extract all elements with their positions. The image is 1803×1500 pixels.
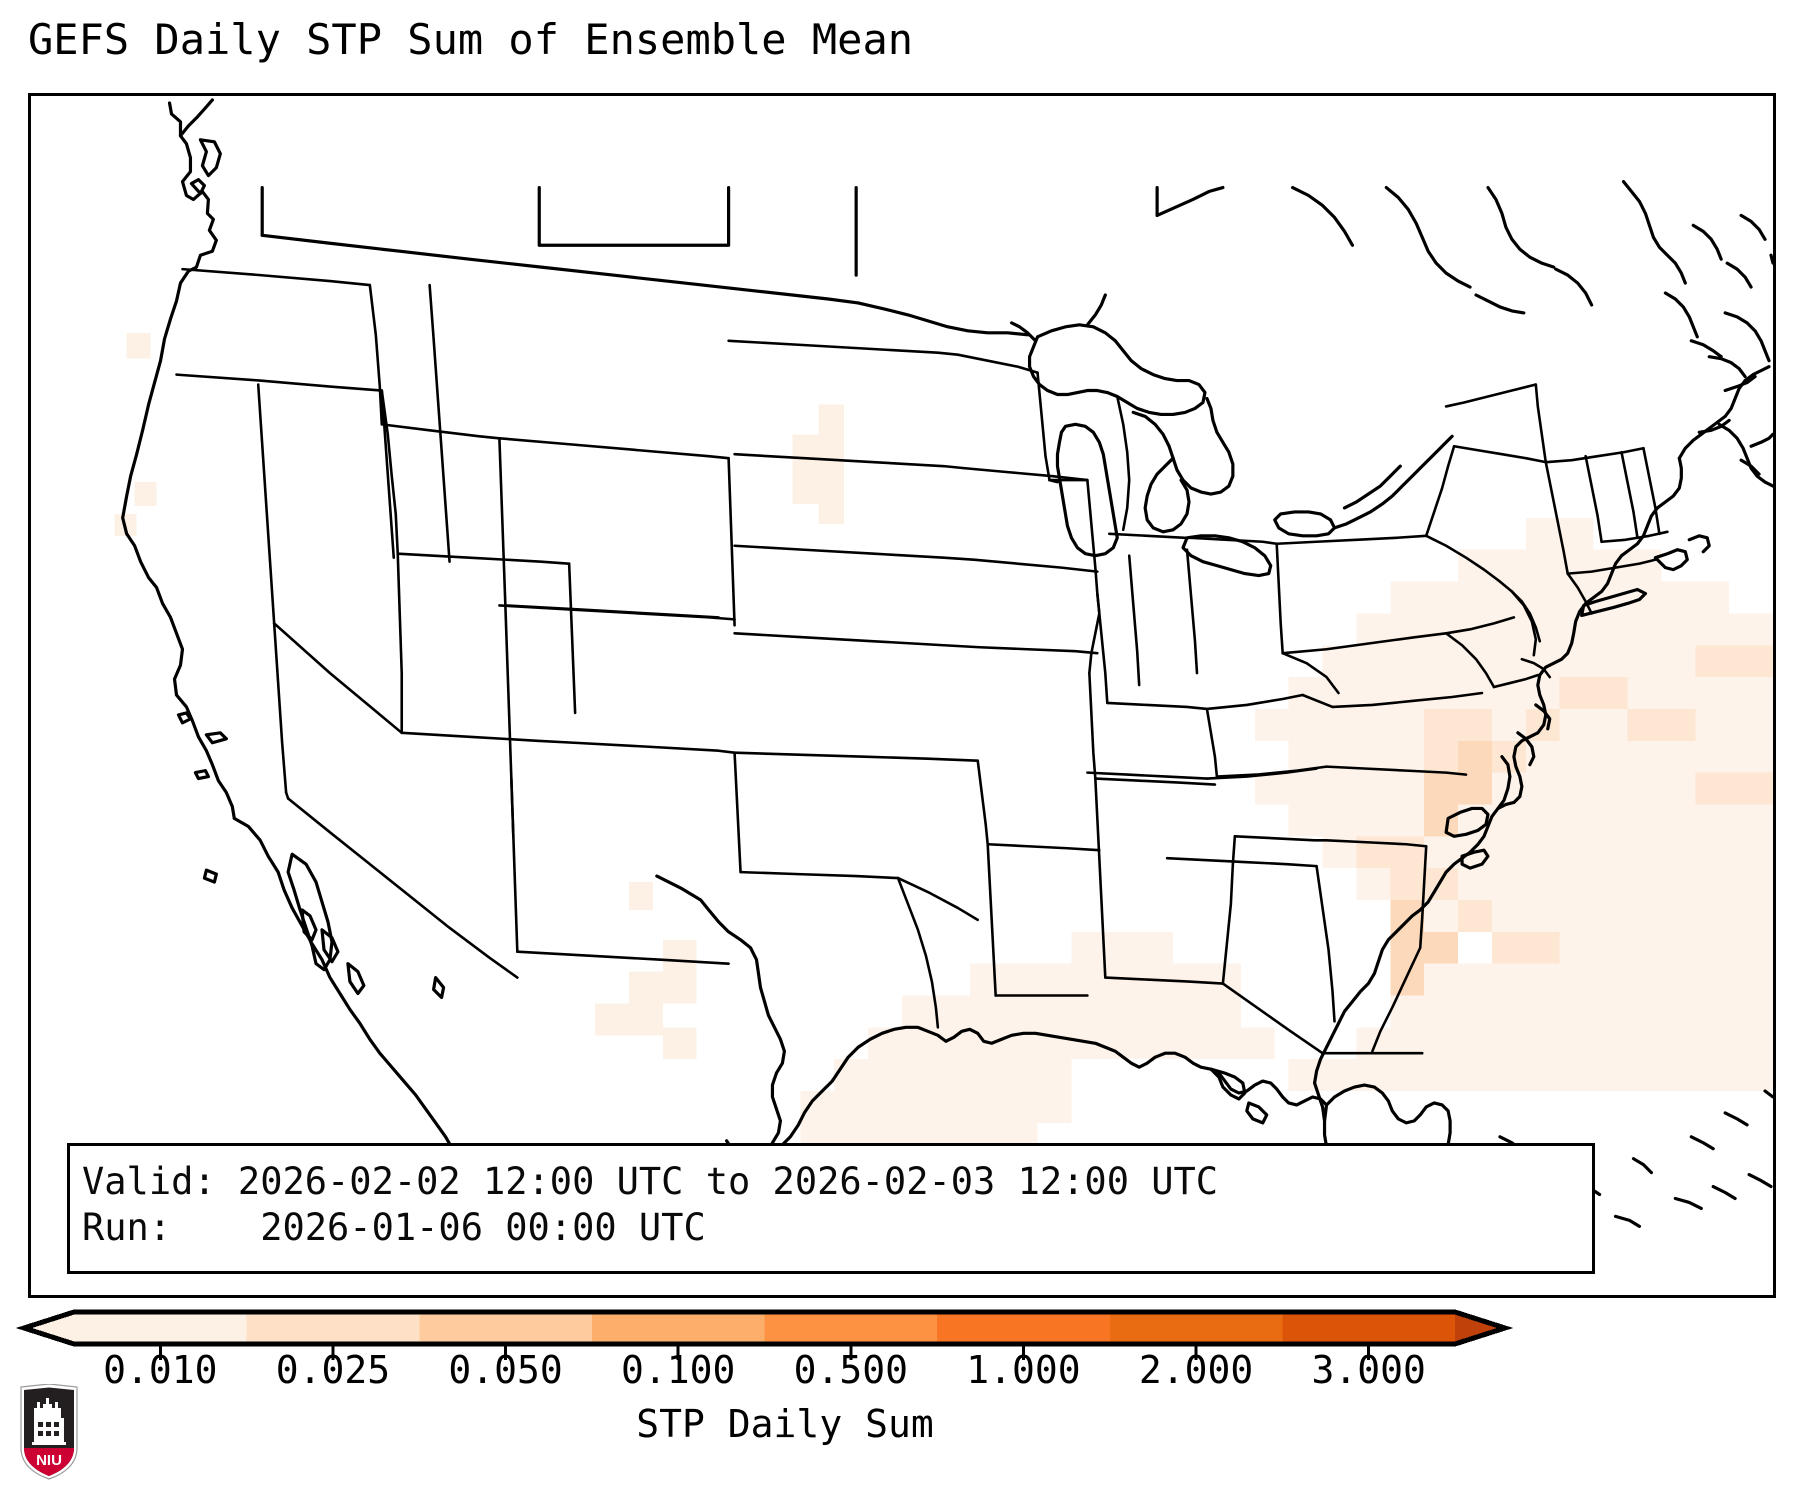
colorbar-segment xyxy=(1282,1312,1455,1344)
colorbar-segments xyxy=(74,1312,1456,1344)
colorbar-tick-label: 0.025 xyxy=(276,1348,390,1392)
colorbar-axis-label: STP Daily Sum xyxy=(636,1402,933,1446)
run-time-line: Run: 2026-01-06 00:00 UTC xyxy=(82,1208,706,1248)
colorbar-tick-label: 1.000 xyxy=(966,1348,1080,1392)
page-title: GEFS Daily STP Sum of Ensemble Mean xyxy=(28,14,913,66)
colorbar-tick-label: 0.050 xyxy=(448,1348,562,1392)
colorbar-tick-label: 0.500 xyxy=(794,1348,908,1392)
colorbar-segment xyxy=(765,1312,938,1344)
colorbar-tick-label: 0.100 xyxy=(621,1348,735,1392)
colorbar-segment xyxy=(419,1312,592,1344)
map-plot-area xyxy=(31,96,1773,1295)
map-frame xyxy=(28,93,1776,1298)
colorbar-segment xyxy=(1110,1312,1283,1344)
niu-logo: NIU xyxy=(18,1384,80,1480)
colorbar-segment xyxy=(592,1312,765,1344)
colorbar: 0.0100.0250.0500.1000.5001.0002.0003.000… xyxy=(0,1300,1803,1500)
colorbar-tick-label: 2.000 xyxy=(1139,1348,1253,1392)
colorbar-segment xyxy=(74,1312,247,1344)
colorbar-segment xyxy=(247,1312,420,1344)
niu-logo-text: NIU xyxy=(36,1452,62,1469)
colorbar-tick-label: 3.000 xyxy=(1311,1348,1425,1392)
map-svg xyxy=(31,96,1773,1295)
colorbar-tick-label: 0.010 xyxy=(103,1348,217,1392)
forecast-info-box: Valid: 2026-02-02 12:00 UTC to 2026-02-0… xyxy=(67,1143,1595,1274)
valid-time-line: Valid: 2026-02-02 12:00 UTC to 2026-02-0… xyxy=(82,1162,1218,1202)
colorbar-segment xyxy=(937,1312,1110,1344)
